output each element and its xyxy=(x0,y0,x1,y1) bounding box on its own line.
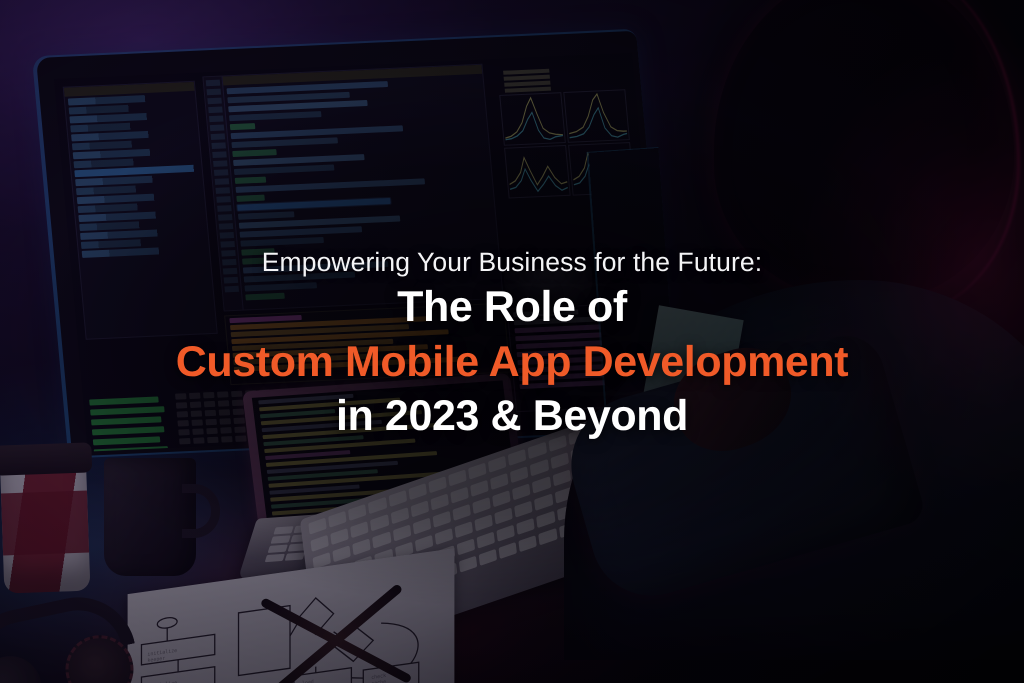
headline-eyebrow: Empowering Your Business for the Future: xyxy=(0,248,1024,278)
headline-line-3: in 2023 & Beyond xyxy=(0,392,1024,442)
headline-line-2-accent: Custom Mobile App Development xyxy=(0,338,1024,388)
headline-block: Empowering Your Business for the Future:… xyxy=(0,248,1024,442)
banner-image: initializekeeper initializechains define… xyxy=(0,0,1024,683)
headline-line-1: The Role of xyxy=(0,283,1024,333)
